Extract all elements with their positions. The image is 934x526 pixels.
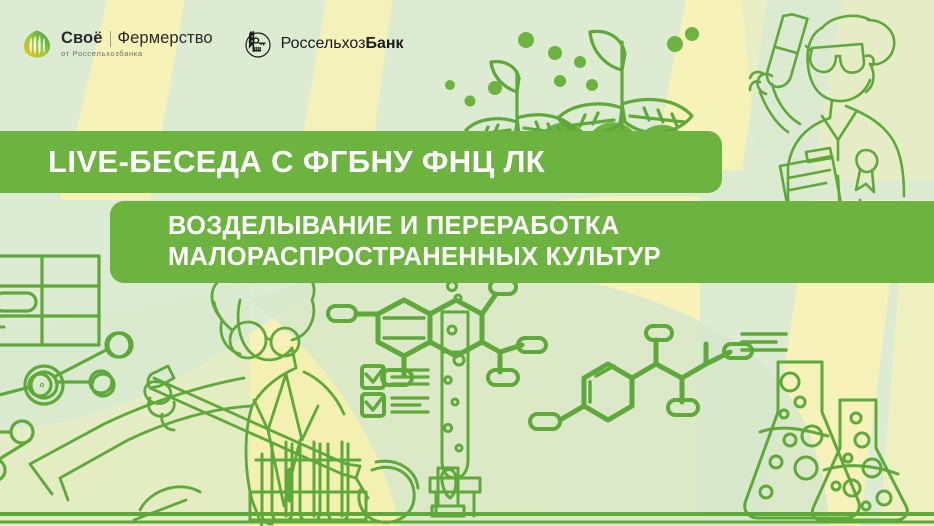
logo-rshb-text-bold: Банк [365, 35, 403, 52]
subtitle-line-1: ВОЗДЕЛЫВАНИЕ И ПЕРЕРАБОТКА [168, 211, 934, 242]
main-title-bar: LIVE-БЕСЕДА С ФГБНУ ФНЦ ЛК [0, 131, 722, 193]
logo-divider [110, 31, 111, 47]
main-title-text: LIVE-БЕСЕДА С ФГБНУ ФНЦ ЛК [48, 144, 545, 180]
logo-rshb[interactable]: РоссельхозБанк [241, 28, 404, 60]
logo-rshb-text-light: Россельхоз [281, 35, 366, 52]
logo-svoe-fermerstvo[interactable]: Своё Фермерство от Россельхозбанка [22, 29, 213, 59]
logo-rshb-text: РоссельхозБанк [281, 35, 404, 53]
logo-fermerstvo-word: Фермерство [118, 30, 213, 47]
subtitle-bar: ВОЗДЕЛЫВАНИЕ И ПЕРЕРАБОТКА МАЛОРАСПРОСТР… [110, 201, 934, 283]
svoe-leaf-mark [22, 29, 52, 59]
rshb-wheat-key-mark [241, 28, 273, 60]
logo-svoe-word: Своё [61, 30, 103, 47]
promo-banner: Своё Фермерство от Россельхозбанка [0, 0, 934, 526]
logo-tagline: от Россельхозбанка [61, 50, 213, 58]
molecule-structure-branched [530, 326, 786, 429]
logo-bar: Своё Фермерство от Россельхозбанка [22, 28, 404, 60]
checkbox-list [362, 366, 428, 416]
subtitle-line-2: МАЛОРАСПРОСТРАНЕННЫХ КУЛЬТУР [168, 242, 934, 273]
